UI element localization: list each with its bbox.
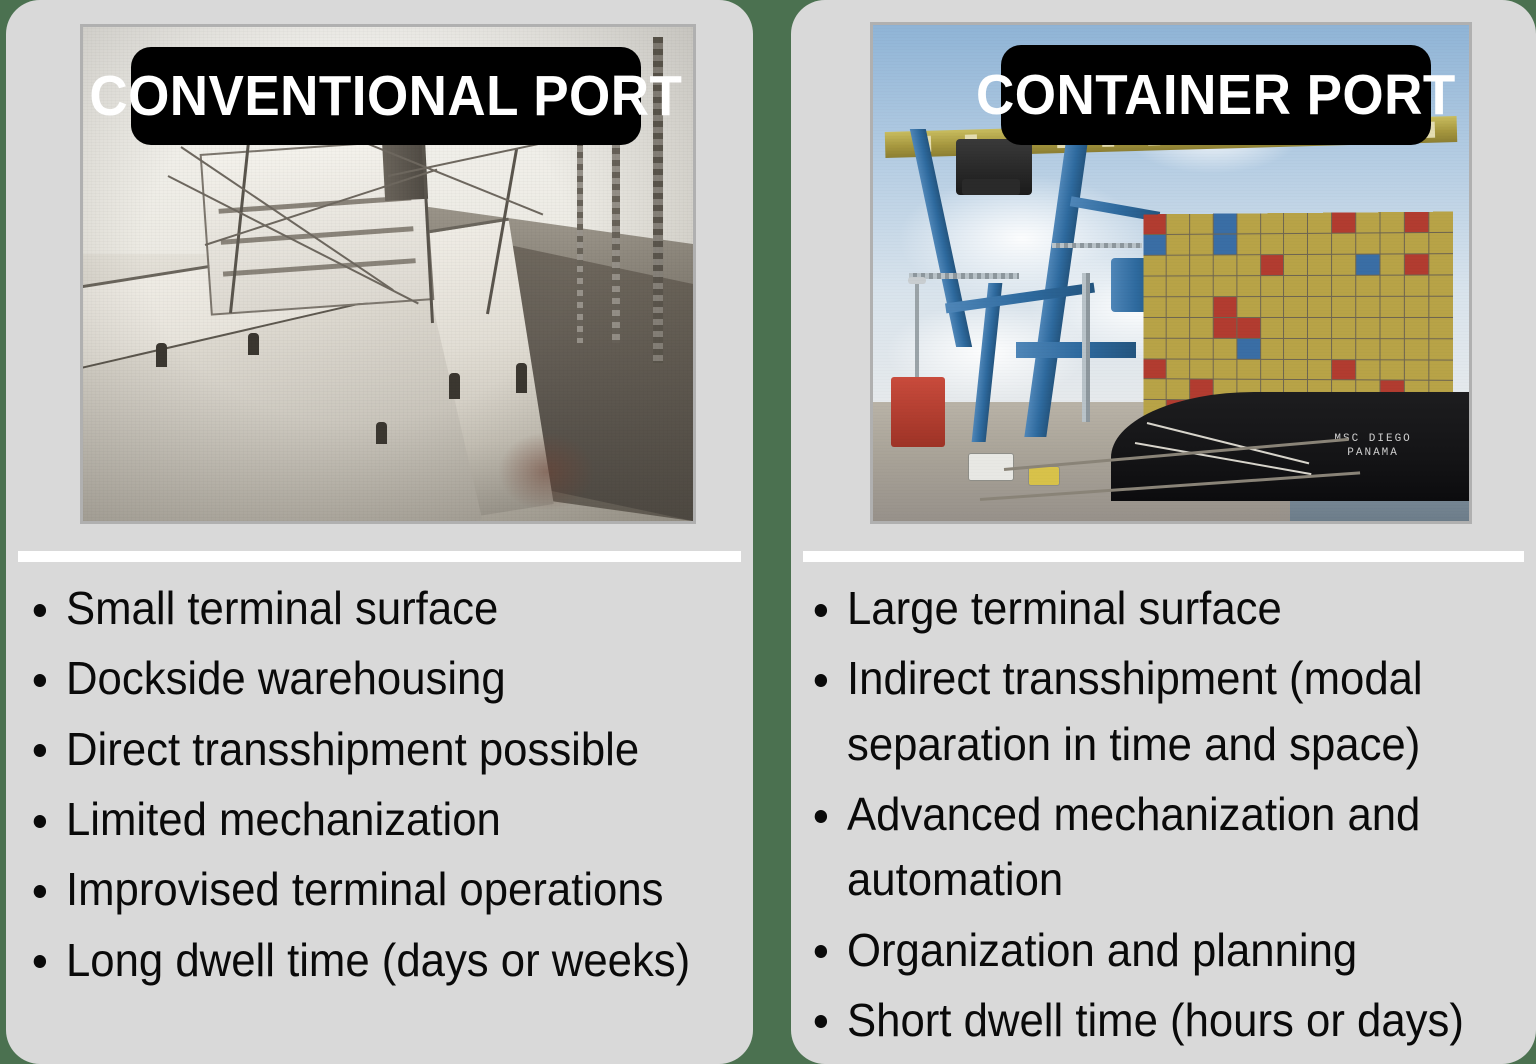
container-port-photo-frame: MSC DIEGO PANAMA CONTAINER PORT xyxy=(870,22,1472,524)
bullet-icon xyxy=(34,744,46,757)
list-item-label: Limited mechanization xyxy=(66,793,501,845)
list-item-label: Long dwell time (days or weeks) xyxy=(66,934,690,986)
conventional-port-photo-frame: CONVENTIONAL PORT xyxy=(80,24,696,524)
conventional-port-title-chip: CONVENTIONAL PORT xyxy=(131,47,641,145)
list-item: Advanced mechanization and automation xyxy=(809,782,1490,913)
list-item: Long dwell time (days or weeks) xyxy=(28,928,703,993)
list-item: Small terminal surface xyxy=(28,576,703,641)
list-item: Short dwell time (hours or days) xyxy=(809,988,1490,1053)
list-item-label: Indirect transshipment (modal separation… xyxy=(847,652,1423,769)
list-item-label: Short dwell time (hours or days) xyxy=(847,994,1464,1046)
list-item: Dockside warehousing xyxy=(28,646,703,711)
container-port-title: CONTAINER PORT xyxy=(976,62,1456,128)
bullet-icon xyxy=(815,674,827,687)
bullet-icon xyxy=(34,674,46,687)
bullet-icon xyxy=(815,810,827,823)
bullet-icon xyxy=(815,604,827,617)
conventional-panel-divider xyxy=(18,551,741,562)
bullet-icon xyxy=(34,604,46,617)
bullet-icon xyxy=(815,1015,827,1028)
list-item: Limited mechanization xyxy=(28,787,703,852)
bullet-icon xyxy=(815,945,827,958)
list-item-label: Large terminal surface xyxy=(847,582,1282,634)
bullet-icon xyxy=(34,955,46,968)
list-item: Large terminal surface xyxy=(809,576,1490,641)
list-item-label: Advanced mechanization and automation xyxy=(847,788,1420,905)
container-panel-divider xyxy=(803,551,1524,562)
bullet-icon xyxy=(34,815,46,828)
list-item-label: Direct transshipment possible xyxy=(66,723,639,775)
port-comparison-figure: CONVENTIONAL PORT Small terminal surface… xyxy=(0,0,1536,1064)
list-item-label: Improvised terminal operations xyxy=(66,863,664,915)
panel-container-port: MSC DIEGO PANAMA CONTAINER PORT xyxy=(791,0,1536,1064)
list-item: Improvised terminal operations xyxy=(28,857,703,922)
list-item-label: Dockside warehousing xyxy=(66,652,506,704)
list-item: Indirect transshipment (modal separation… xyxy=(809,646,1490,777)
panel-conventional-port: CONVENTIONAL PORT Small terminal surface… xyxy=(6,0,753,1064)
list-item-label: Organization and planning xyxy=(847,924,1357,976)
list-item: Direct transshipment possible xyxy=(28,717,703,782)
list-item: Organization and planning xyxy=(809,918,1490,983)
conventional-port-feature-list: Small terminal surface Dockside warehous… xyxy=(28,576,739,998)
bullet-icon xyxy=(34,885,46,898)
list-item-label: Small terminal surface xyxy=(66,582,498,634)
container-port-feature-list: Large terminal surface Indirect transshi… xyxy=(809,576,1526,1058)
conventional-port-title: CONVENTIONAL PORT xyxy=(89,63,682,129)
container-port-title-chip: CONTAINER PORT xyxy=(1001,45,1431,145)
